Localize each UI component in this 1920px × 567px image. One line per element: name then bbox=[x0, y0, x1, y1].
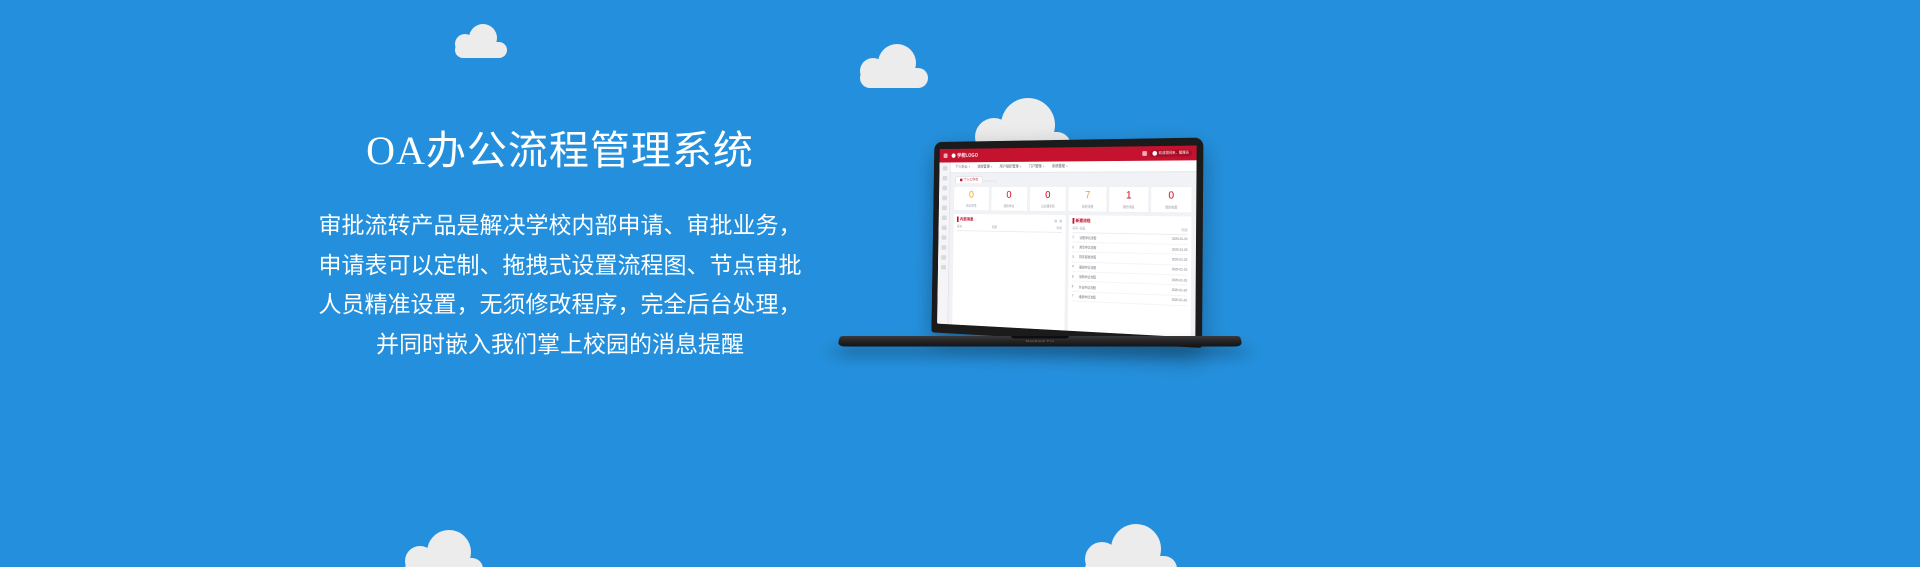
stat-card[interactable]: 0 我的收藏 bbox=[1151, 187, 1191, 213]
sidebar-rail-item[interactable] bbox=[941, 215, 946, 220]
sidebar-rail-item[interactable] bbox=[942, 176, 947, 181]
tab-label: 个人工作台 bbox=[964, 178, 979, 183]
user-menu[interactable]: 欢迎您回来，管理员 bbox=[1149, 150, 1192, 157]
stat-value: 0 bbox=[992, 190, 1026, 200]
row-date: 2020-01-20 bbox=[1162, 298, 1187, 303]
row-title: 维修申请流程 bbox=[1079, 294, 1163, 302]
panel-internal-messages: 内部消息 序号 标题 时间 bbox=[952, 214, 1065, 331]
row-title: 离校申请流程 bbox=[1079, 264, 1163, 271]
cloud-decoration-1 bbox=[455, 24, 507, 58]
table-header-row: 序号 标题 时间 bbox=[957, 224, 1062, 233]
row-title: 财务报销流程 bbox=[1079, 255, 1163, 262]
row-date: 2020-01-20 bbox=[1163, 237, 1188, 241]
description-line: 并同时嵌入我们掌上校园的消息提醒 bbox=[260, 325, 860, 365]
nav-item-user-org-management[interactable]: 用户组织管理 bbox=[1000, 165, 1022, 170]
description-line: 申请表可以定制、拖拽式设置流程图、节点审批 bbox=[260, 246, 860, 286]
tab-personal-workspace[interactable]: 个人工作台 bbox=[955, 176, 983, 183]
sidebar-rail-item[interactable] bbox=[942, 206, 947, 211]
row-index: 7 bbox=[1072, 294, 1079, 298]
app-content: 个人办公 流程管理 用户组织管理 门户管理 系统管理 个人工作台 bbox=[948, 160, 1196, 337]
stat-label: 待办事项 bbox=[955, 203, 988, 208]
bell-icon[interactable] bbox=[1142, 151, 1147, 156]
stat-value: 1 bbox=[1110, 191, 1147, 202]
row-title: 采购申请流程 bbox=[1079, 274, 1163, 282]
stat-card-row: 0 待办事项 0 我的申请 0 已办理事项 7 bbox=[950, 183, 1196, 213]
stat-card[interactable]: 0 我的申请 bbox=[991, 187, 1027, 211]
sidebar-rail-item[interactable] bbox=[942, 196, 947, 201]
row-date: 2020-01-20 bbox=[1162, 288, 1187, 293]
description-line: 人员精准设置，无须修改程序，完全后台处理， bbox=[260, 285, 860, 325]
row-index: 4 bbox=[1072, 265, 1079, 269]
app-body: 个人办公 流程管理 用户组织管理 门户管理 系统管理 个人工作台 bbox=[937, 160, 1196, 337]
stat-label: 我的流程 bbox=[1070, 204, 1106, 209]
panel-row: 内部消息 序号 标题 时间 bbox=[948, 210, 1196, 337]
app-logo-text: 学校LOGO bbox=[957, 152, 978, 159]
stat-value: 0 bbox=[1030, 191, 1065, 201]
stat-label: 我的申请 bbox=[992, 203, 1026, 208]
stat-card[interactable]: 0 待办事项 bbox=[954, 187, 989, 211]
panel-table: 序号 标题 时间 bbox=[954, 224, 1066, 233]
banner-copy: OA办公流程管理系统 审批流转产品是解决学校内部申请、审批业务， 申请表可以定制… bbox=[260, 126, 860, 364]
nav-menu: 个人办公 流程管理 用户组织管理 门户管理 系统管理 bbox=[951, 160, 1197, 173]
sidebar-rail-item[interactable] bbox=[942, 166, 947, 171]
tab-icon bbox=[960, 179, 962, 182]
panel-accent-bar bbox=[957, 217, 958, 222]
panel-tools bbox=[1054, 219, 1062, 222]
logo-mark-icon bbox=[952, 153, 956, 158]
stat-card[interactable]: 1 我的消息 bbox=[1109, 187, 1148, 212]
row-date: 2020-01-20 bbox=[1163, 257, 1188, 262]
refresh-icon[interactable] bbox=[1054, 219, 1057, 222]
column-header: 序号 bbox=[957, 224, 992, 229]
panel-new-processes: 新建流程 序号 标题 时间 1 请假申请流程 bbox=[1068, 215, 1192, 337]
column-header: 时间 bbox=[1027, 225, 1062, 230]
row-index: 6 bbox=[1072, 284, 1079, 288]
sidebar-rail-item[interactable] bbox=[941, 225, 946, 230]
avatar bbox=[1152, 151, 1157, 156]
tab-strip: 个人工作台 bbox=[950, 172, 1196, 183]
row-index: 5 bbox=[1072, 275, 1079, 279]
laptop-screen: 学校LOGO 欢迎您回来，管理员 bbox=[937, 146, 1197, 338]
banner-description: 审批流转产品是解决学校内部申请、审批业务， 申请表可以定制、拖拽式设置流程图、节… bbox=[260, 206, 860, 364]
row-title: 外出申请流程 bbox=[1079, 284, 1163, 292]
stat-card[interactable]: 7 我的流程 bbox=[1069, 187, 1107, 212]
more-icon[interactable] bbox=[1060, 219, 1063, 222]
laptop-model-label: MacBook Pro bbox=[838, 339, 1241, 342]
panel-table: 序号 标题 时间 1 请假申请流程 2020-01-20 bbox=[1068, 225, 1191, 306]
cloud-decoration-2 bbox=[860, 44, 928, 88]
row-date: 2020-01-20 bbox=[1163, 267, 1188, 272]
stat-label: 已办理事项 bbox=[1030, 204, 1065, 209]
stat-value: 0 bbox=[955, 190, 988, 200]
header-actions: 欢迎您回来，管理员 bbox=[1142, 150, 1192, 157]
sidebar-rail-item[interactable] bbox=[941, 265, 946, 270]
cloud-decoration-5 bbox=[1085, 524, 1177, 567]
sidebar-rail-item[interactable] bbox=[941, 245, 946, 250]
column-header: 时间 bbox=[1163, 227, 1188, 232]
sidebar-rail-item[interactable] bbox=[941, 235, 946, 240]
page-title: OA办公流程管理系统 bbox=[260, 126, 860, 176]
row-date: 2020-01-20 bbox=[1163, 247, 1188, 252]
panel-title: 内部消息 bbox=[960, 217, 974, 223]
row-title: 用章申请流程 bbox=[1079, 245, 1163, 252]
user-name-label: 欢迎您回来，管理员 bbox=[1159, 151, 1189, 156]
sidebar-rail-item[interactable] bbox=[941, 255, 946, 260]
nav-item-personal-office[interactable]: 个人办公 bbox=[955, 165, 970, 170]
nav-item-process-management[interactable]: 流程管理 bbox=[977, 165, 992, 170]
app-logo: 学校LOGO bbox=[952, 152, 979, 159]
panel-title: 新建流程 bbox=[1076, 218, 1091, 224]
laptop-base: MacBook Pro bbox=[837, 336, 1243, 346]
row-title: 请假申请流程 bbox=[1079, 235, 1163, 241]
column-header: 序号 bbox=[1072, 226, 1079, 231]
row-date: 2020-01-20 bbox=[1163, 278, 1188, 283]
column-header: 标题 bbox=[992, 224, 1028, 229]
stat-value: 0 bbox=[1152, 191, 1190, 202]
stat-label: 我的收藏 bbox=[1152, 204, 1190, 209]
nav-item-system-management[interactable]: 系统管理 bbox=[1052, 164, 1068, 169]
sidebar-rail-item[interactable] bbox=[942, 186, 947, 190]
stat-label: 我的消息 bbox=[1110, 204, 1147, 209]
column-header: 标题 bbox=[1079, 226, 1162, 232]
cloud-decoration-4 bbox=[405, 530, 483, 567]
row-index: 3 bbox=[1072, 255, 1079, 259]
laptop-mockup: 学校LOGO 欢迎您回来，管理员 bbox=[840, 136, 1240, 380]
panel-accent-bar bbox=[1073, 218, 1074, 224]
stat-card[interactable]: 0 已办理事项 bbox=[1029, 187, 1066, 212]
row-index: 1 bbox=[1072, 235, 1079, 239]
laptop-lid: 学校LOGO 欢迎您回来，管理员 bbox=[931, 138, 1203, 348]
description-line: 审批流转产品是解决学校内部申请、审批业务， bbox=[260, 206, 860, 246]
stat-value: 7 bbox=[1070, 191, 1106, 202]
hamburger-icon[interactable] bbox=[944, 153, 948, 158]
nav-item-portal-management[interactable]: 门户管理 bbox=[1029, 164, 1045, 169]
row-index: 2 bbox=[1072, 245, 1079, 249]
